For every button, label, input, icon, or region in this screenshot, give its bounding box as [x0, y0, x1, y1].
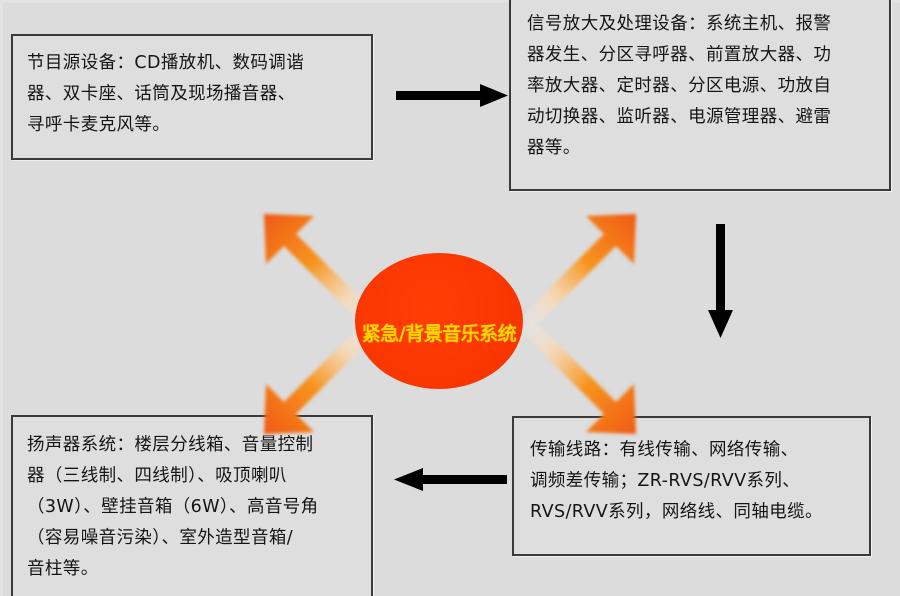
box-program-source-text: 节目源设备：CD播放机、数码调谐 器、双卡座、话筒及现场播音器、 寻呼卡麦克风等… — [13, 36, 371, 141]
diagram-canvas: 紧急/背景音乐系统 节目源设备：CD播放机、数码调谐 器、双卡座、话筒及现场播音… — [0, 0, 900, 596]
center-node-emergency-background-music-system: 紧急/背景音乐系统 — [355, 253, 523, 389]
box-signal-processing-text: 信号放大及处理设备：系统主机、报警 器发生、分区寻呼器、前置放大器、功 率放大器… — [511, 0, 889, 164]
connector-arrow-left-icon — [392, 466, 508, 494]
box-signal-amplification-processing-equipment: 信号放大及处理设备：系统主机、报警 器发生、分区寻呼器、前置放大器、功 率放大器… — [509, 0, 891, 191]
center-node-label: 紧急/背景音乐系统 — [362, 319, 516, 346]
connector-arrow-right-icon — [396, 82, 510, 110]
box-speaker-system-text: 扬声器系统：楼层分线箱、音量控制 器（三线制、四线制）、吸顶喇叭 （3W）、壁挂… — [13, 417, 371, 585]
box-program-source-equipment: 节目源设备：CD播放机、数码调谐 器、双卡座、话筒及现场播音器、 寻呼卡麦克风等… — [11, 34, 373, 160]
connector-arrow-down-icon — [706, 224, 736, 340]
ray-arrow-down-right-icon — [512, 310, 644, 442]
box-speaker-system: 扬声器系统：楼层分线箱、音量控制 器（三线制、四线制）、吸顶喇叭 （3W）、壁挂… — [11, 415, 373, 596]
